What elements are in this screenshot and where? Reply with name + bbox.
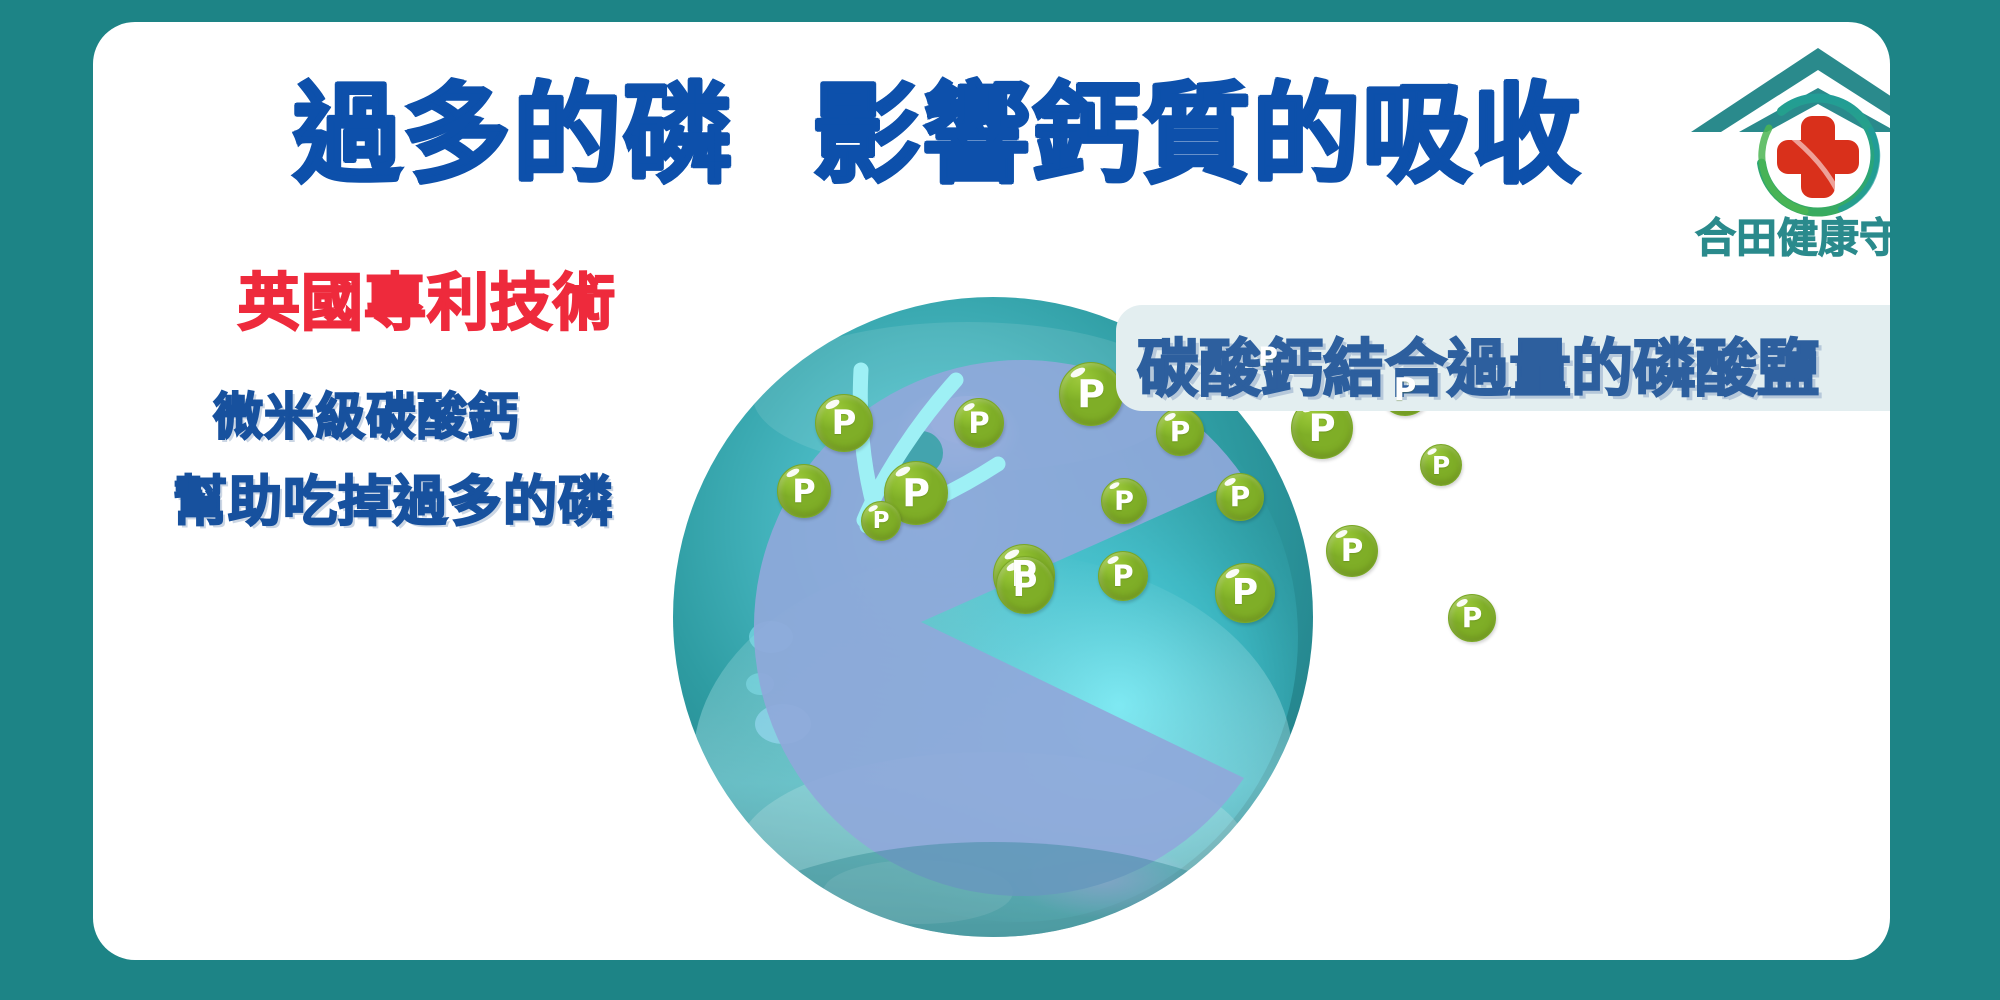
p-particle: P <box>777 464 831 518</box>
callout-banner-text: 碳酸鈣結合過量的磷酸鹽 <box>1137 318 1819 408</box>
logo-text: 合田健康守護 <box>1683 204 1890 264</box>
p-particle: P <box>1098 551 1148 601</box>
page-title: 過多的磷 影響鈣質的吸收 <box>293 82 1582 190</box>
medical-cross-icon <box>1777 116 1859 198</box>
p-particle: P <box>1216 473 1264 521</box>
p-particle: P <box>1059 362 1123 426</box>
poster-card: P P P P P P P P P P P P P P P P P P P 過多… <box>93 22 1890 960</box>
p-particle: P <box>1156 408 1204 456</box>
p-particle: P <box>1420 444 1462 486</box>
p-particle: P <box>815 394 873 452</box>
p-particle: P <box>996 556 1054 614</box>
feature-line-1: 微米級碳酸鈣 <box>213 377 519 449</box>
p-particle: P <box>1326 525 1378 577</box>
p-particle: P <box>1101 478 1147 524</box>
p-particle: P <box>954 398 1004 448</box>
p-particle: P <box>861 501 901 541</box>
p-particle: P <box>1448 594 1496 642</box>
brand-logo: 合田健康守護 <box>1683 40 1890 270</box>
feature-line-2: 幫助吃掉過多的磷 <box>173 457 613 536</box>
poster-root: P P P P P P P P P P P P P P P P P P P 過多… <box>0 0 2000 1000</box>
logo-mark-svg <box>1683 40 1890 220</box>
p-particle: P <box>1215 563 1275 623</box>
patent-headline: 英國專利技術 <box>238 252 616 342</box>
